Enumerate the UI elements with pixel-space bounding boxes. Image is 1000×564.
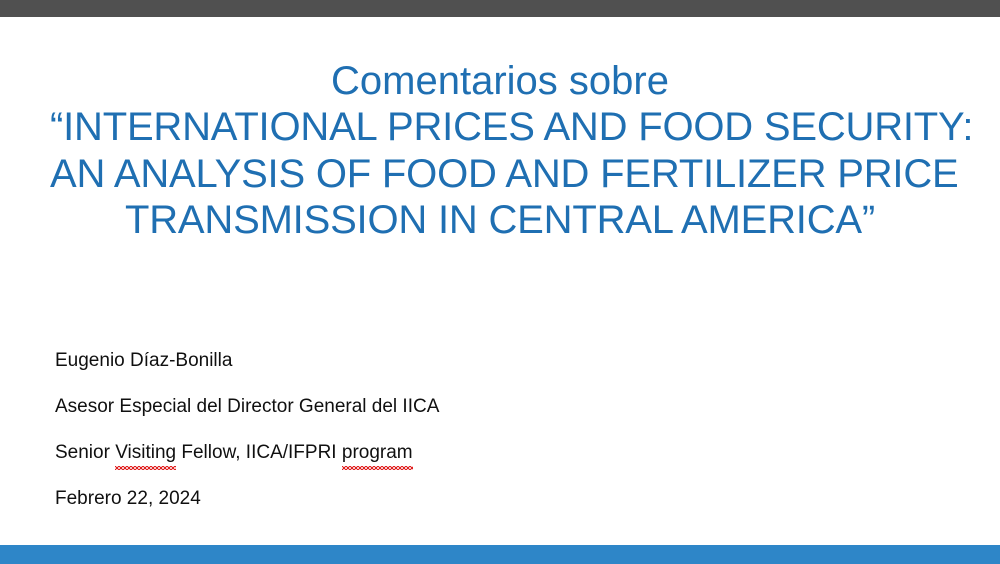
presentation-date: Febrero 22, 2024 — [55, 488, 201, 509]
title-line-2: “INTERNATIONAL PRICES AND FOOD SECURITY: — [50, 104, 950, 150]
misspelled-word-visiting: Visiting — [115, 439, 176, 467]
title-line-1: Comentarios sobre — [50, 58, 950, 104]
slide-title: Comentarios sobre “INTERNATIONAL PRICES … — [50, 58, 950, 244]
author-role-line: Asesor Especial del Director General del… — [55, 393, 855, 439]
top-accent-bar — [0, 0, 1000, 17]
affiliation-prefix: Senior — [55, 442, 115, 463]
misspelled-word-program: program — [342, 439, 413, 467]
title-line-3: AN ANALYSIS OF FOOD AND FERTILIZER PRICE — [50, 151, 950, 197]
slide-body: Eugenio Díaz-Bonilla Asesor Especial del… — [55, 347, 855, 531]
author-name-line: Eugenio Díaz-Bonilla — [55, 347, 855, 393]
bottom-accent-bar — [0, 545, 1000, 564]
affiliation-middle: Fellow, IICA/IFPRI — [176, 442, 342, 463]
author-name: Eugenio Díaz-Bonilla — [55, 350, 232, 371]
title-line-4: TRANSMISSION IN CENTRAL AMERICA” — [50, 197, 950, 243]
author-affiliation-line: Senior Visiting Fellow, IICA/IFPRI progr… — [55, 439, 855, 485]
presentation-slide: Comentarios sobre “INTERNATIONAL PRICES … — [0, 0, 1000, 564]
author-role: Asesor Especial del Director General del… — [55, 396, 439, 417]
presentation-date-line: Febrero 22, 2024 — [55, 485, 855, 531]
